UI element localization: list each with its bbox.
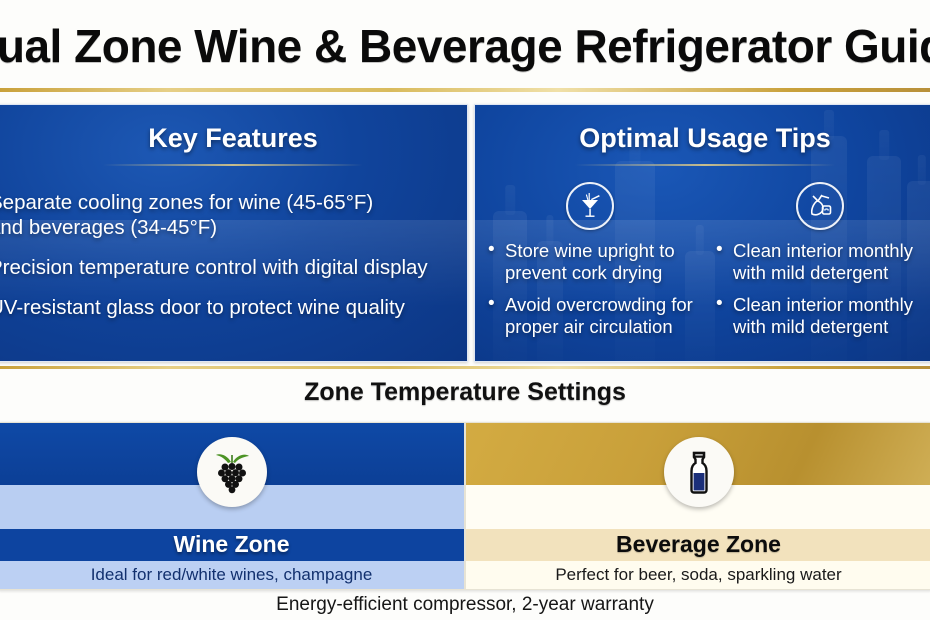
cocktail-glass-icon (566, 182, 614, 230)
panel-key-features: Key Features Separate cooling zones for … (0, 104, 468, 362)
list-item: Precision temperature control with digit… (0, 255, 467, 280)
zone-cards: Wine Zone Ideal for red/white wines, cha… (0, 422, 930, 590)
list-item: Clean interior monthly with mild deterge… (733, 240, 930, 284)
usage-tips-list-cleaning: Clean interior monthly with mild deterge… (705, 240, 930, 338)
zone-name: Beverage Zone (466, 531, 930, 558)
usage-tips-heading: Optimal Usage Tips (475, 123, 930, 154)
zone-name: Wine Zone (0, 531, 464, 558)
footer-note: Energy-efficient compressor, 2-year warr… (0, 594, 930, 616)
infographic-page: Dual Zone Wine & Beverage Refrigerator G… (0, 0, 930, 620)
cleaning-spray-icon (796, 182, 844, 230)
beverage-bottle-icon (664, 437, 734, 507)
list-item: Avoid overcrowding for proper air circul… (505, 294, 705, 338)
panel-usage-tips: Optimal Usage Tips Store wine upright to… (474, 104, 930, 362)
list-item: Separate cooling zones for wine (45-65°F… (0, 190, 467, 240)
zone-card-beverage[interactable]: Beverage Zone Perfect for beer, soda, sp… (465, 422, 930, 590)
key-features-heading: Key Features (0, 123, 467, 154)
gold-divider-rule-top (0, 88, 930, 92)
list-item: UV-resistant glass door to protect wine … (0, 295, 467, 320)
gold-underline-divider (575, 164, 835, 166)
usage-tips-list-wine: Store wine upright to prevent cork dryin… (475, 240, 705, 338)
title-region: Dual Zone Wine & Beverage Refrigerator G… (0, 8, 930, 84)
zone-description: Perfect for beer, soda, sparkling water (466, 565, 930, 585)
zone-card-wine[interactable]: Wine Zone Ideal for red/white wines, cha… (0, 422, 465, 590)
zone-section-heading: Zone Temperature Settings (0, 378, 930, 407)
grape-cluster-icon (197, 437, 267, 507)
list-item: Clean interior monthly with mild deterge… (733, 294, 930, 338)
usage-tips-column-wine: Store wine upright to prevent cork dryin… (475, 182, 705, 348)
zone-description: Ideal for red/white wines, champagne (0, 565, 464, 585)
gold-underline-divider (103, 164, 363, 166)
usage-tips-columns: Store wine upright to prevent cork dryin… (475, 182, 930, 348)
page-title: Dual Zone Wine & Beverage Refrigerator G… (0, 19, 930, 73)
usage-tips-column-cleaning: Clean interior monthly with mild deterge… (705, 182, 930, 348)
list-item: Store wine upright to prevent cork dryin… (505, 240, 705, 284)
key-features-list: Separate cooling zones for wine (45-65°F… (0, 190, 467, 320)
gold-divider-rule-middle (0, 366, 930, 369)
